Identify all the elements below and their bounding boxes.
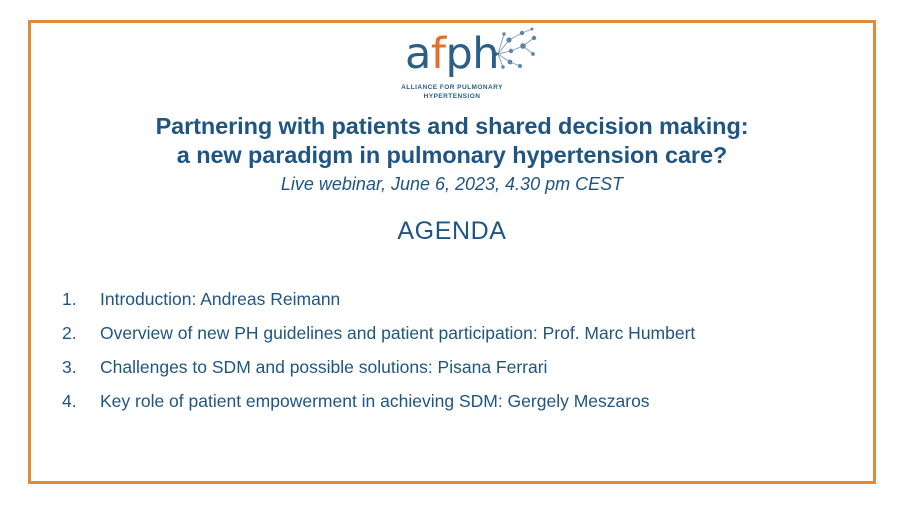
slide-title-line-2: a new paradigm in pulmonary hypertension…: [0, 141, 904, 170]
logo-wordmark: afph: [405, 28, 499, 80]
presentation-slide: afph: [0, 0, 904, 508]
molecule-network-icon: [489, 24, 545, 80]
agenda-item-number: 4.: [62, 384, 100, 418]
slide-title-block: Partnering with patients and shared deci…: [0, 112, 904, 196]
agenda-item-number: 2.: [62, 316, 100, 350]
agenda-heading: AGENDA: [0, 216, 904, 246]
organization-logo: afph: [0, 28, 904, 101]
agenda-item-text: Overview of new PH guidelines and patien…: [100, 316, 695, 350]
agenda-item-text: Key role of patient empowerment in achie…: [100, 384, 650, 418]
logo-letter-f: f: [431, 29, 446, 79]
agenda-item-number: 1.: [62, 282, 100, 316]
logo-tagline-line-2: HYPERTENSION: [0, 92, 904, 101]
slide-title-line-1: Partnering with patients and shared deci…: [0, 112, 904, 141]
agenda-item-text: Challenges to SDM and possible solutions…: [100, 350, 547, 384]
logo-tagline-line-1: ALLIANCE FOR PULMONARY: [0, 83, 904, 92]
agenda-item-text: Introduction: Andreas Reimann: [100, 282, 340, 316]
logo-mark: afph: [405, 28, 499, 80]
agenda-item: 3. Challenges to SDM and possible soluti…: [62, 350, 862, 384]
agenda-item-number: 3.: [62, 350, 100, 384]
agenda-item: 2. Overview of new PH guidelines and pat…: [62, 316, 862, 350]
agenda-item: 1. Introduction: Andreas Reimann: [62, 282, 862, 316]
agenda-item: 4. Key role of patient empowerment in ac…: [62, 384, 862, 418]
logo-letter-a: a: [405, 29, 431, 79]
slide-subtitle: Live webinar, June 6, 2023, 4.30 pm CEST: [0, 173, 904, 196]
agenda-list: 1. Introduction: Andreas Reimann 2. Over…: [62, 282, 862, 418]
logo-tagline: ALLIANCE FOR PULMONARY HYPERTENSION: [0, 83, 904, 101]
